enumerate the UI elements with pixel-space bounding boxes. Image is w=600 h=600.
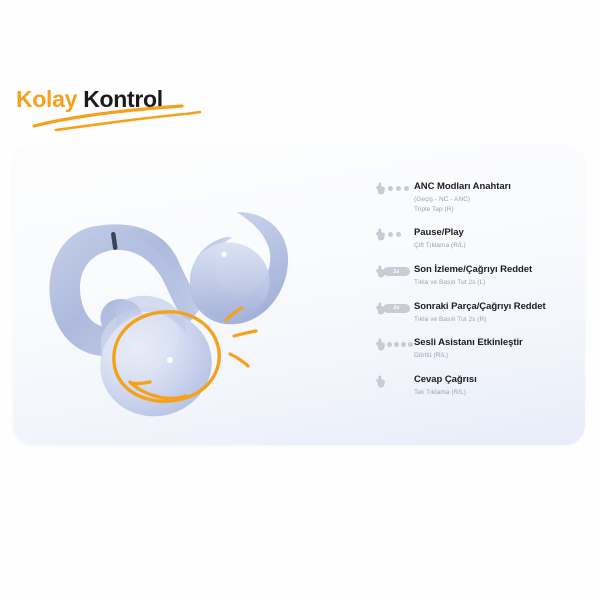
control-title: Sonraki Parça/Çağrıyı Reddet [414,301,574,313]
control-title: Cevap Çağrısı [414,374,574,386]
control-row[interactable]: Sesli Asistanı Etkinleştir Dörtlü (R/L) [374,337,574,361]
gesture-tap-and-hold-icon: 2s [374,266,412,278]
control-title: Son İzleme/Çağrıyı Reddet [414,264,574,276]
control-subtitle-1: Tıkla ve Basılı Tut 2s (L) [414,278,574,288]
controls-list: ANC Modları Anahtarı (Geçiş - NC - ANC) … [374,181,574,398]
content-card: ANC Modları Anahtarı (Geçiş - NC - ANC) … [13,145,585,445]
hold-duration-badge: 2s [383,267,410,276]
control-row[interactable]: Pause/Play Çift Tıklama (R/L) [374,227,574,251]
earbud-right [180,203,298,336]
control-subtitle-1: Tek Tıklama (R/L) [414,388,574,398]
earbud-left [49,224,224,428]
control-title: ANC Modları Anahtarı [414,181,574,193]
control-row[interactable]: Cevap Çağrısı Tek Tıklama (R/L) [374,374,574,398]
control-title: Sesli Asistanı Etkinleştir [414,337,574,349]
control-row[interactable]: 2s Son İzleme/Çağrıyı Reddet Tıkla ve Ba… [374,264,574,288]
gesture-tap-and-hold-icon: 2s [374,303,412,315]
gesture-quadruple-tap-icon [374,339,412,351]
control-subtitle-1: Dörtlü (R/L) [414,351,574,361]
product-illustration [28,178,338,428]
control-subtitle-2: Triple Tap (R) [414,205,574,215]
control-subtitle-1: (Geçiş - NC - ANC) [414,195,574,205]
control-subtitle-1: Çift Tıklama (R/L) [414,241,574,251]
control-row[interactable]: ANC Modları Anahtarı (Geçiş - NC - ANC) … [374,181,574,214]
page-title-word-dark: Kontrol [83,86,163,112]
gesture-triple-tap-icon [374,183,412,195]
control-row[interactable]: 2s Sonraki Parça/Çağrıyı Reddet Tıkla ve… [374,301,574,325]
page-title-word-orange: Kolay [16,86,77,112]
page-title: Kolay Kontrol [16,86,163,113]
gesture-double-tap-icon [374,229,412,241]
hold-duration-badge: 2s [383,304,410,313]
page-root: Kolay Kontrol [0,0,600,600]
control-subtitle-1: Tıkla ve Basılı Tut 2s (R) [414,315,574,325]
control-title: Pause/Play [414,227,574,239]
gesture-single-tap-icon [374,376,412,388]
